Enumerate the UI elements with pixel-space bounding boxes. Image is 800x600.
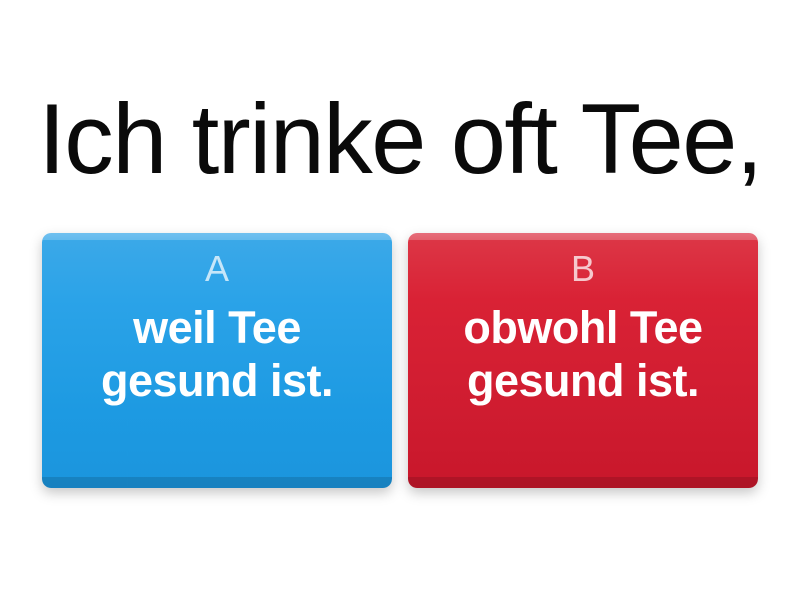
answer-options: A weil Tee gesund ist. B obwohl Tee gesu… [42,233,758,488]
answer-letter-b: B [571,251,595,287]
answer-card-b[interactable]: B obwohl Tee gesund ist. [408,233,758,488]
answer-letter-a: A [205,251,229,287]
answer-text-b: obwohl Tee gesund ist. [422,301,744,407]
answer-card-a-content: A weil Tee gesund ist. [42,233,392,488]
answer-text-a: weil Tee gesund ist. [56,301,378,407]
quiz-stage: Ich trinke oft Tee, A weil Tee gesund is… [0,0,800,600]
question-prompt: Ich trinke oft Tee, [0,78,800,198]
answer-card-a[interactable]: A weil Tee gesund ist. [42,233,392,488]
answer-card-b-content: B obwohl Tee gesund ist. [408,233,758,488]
